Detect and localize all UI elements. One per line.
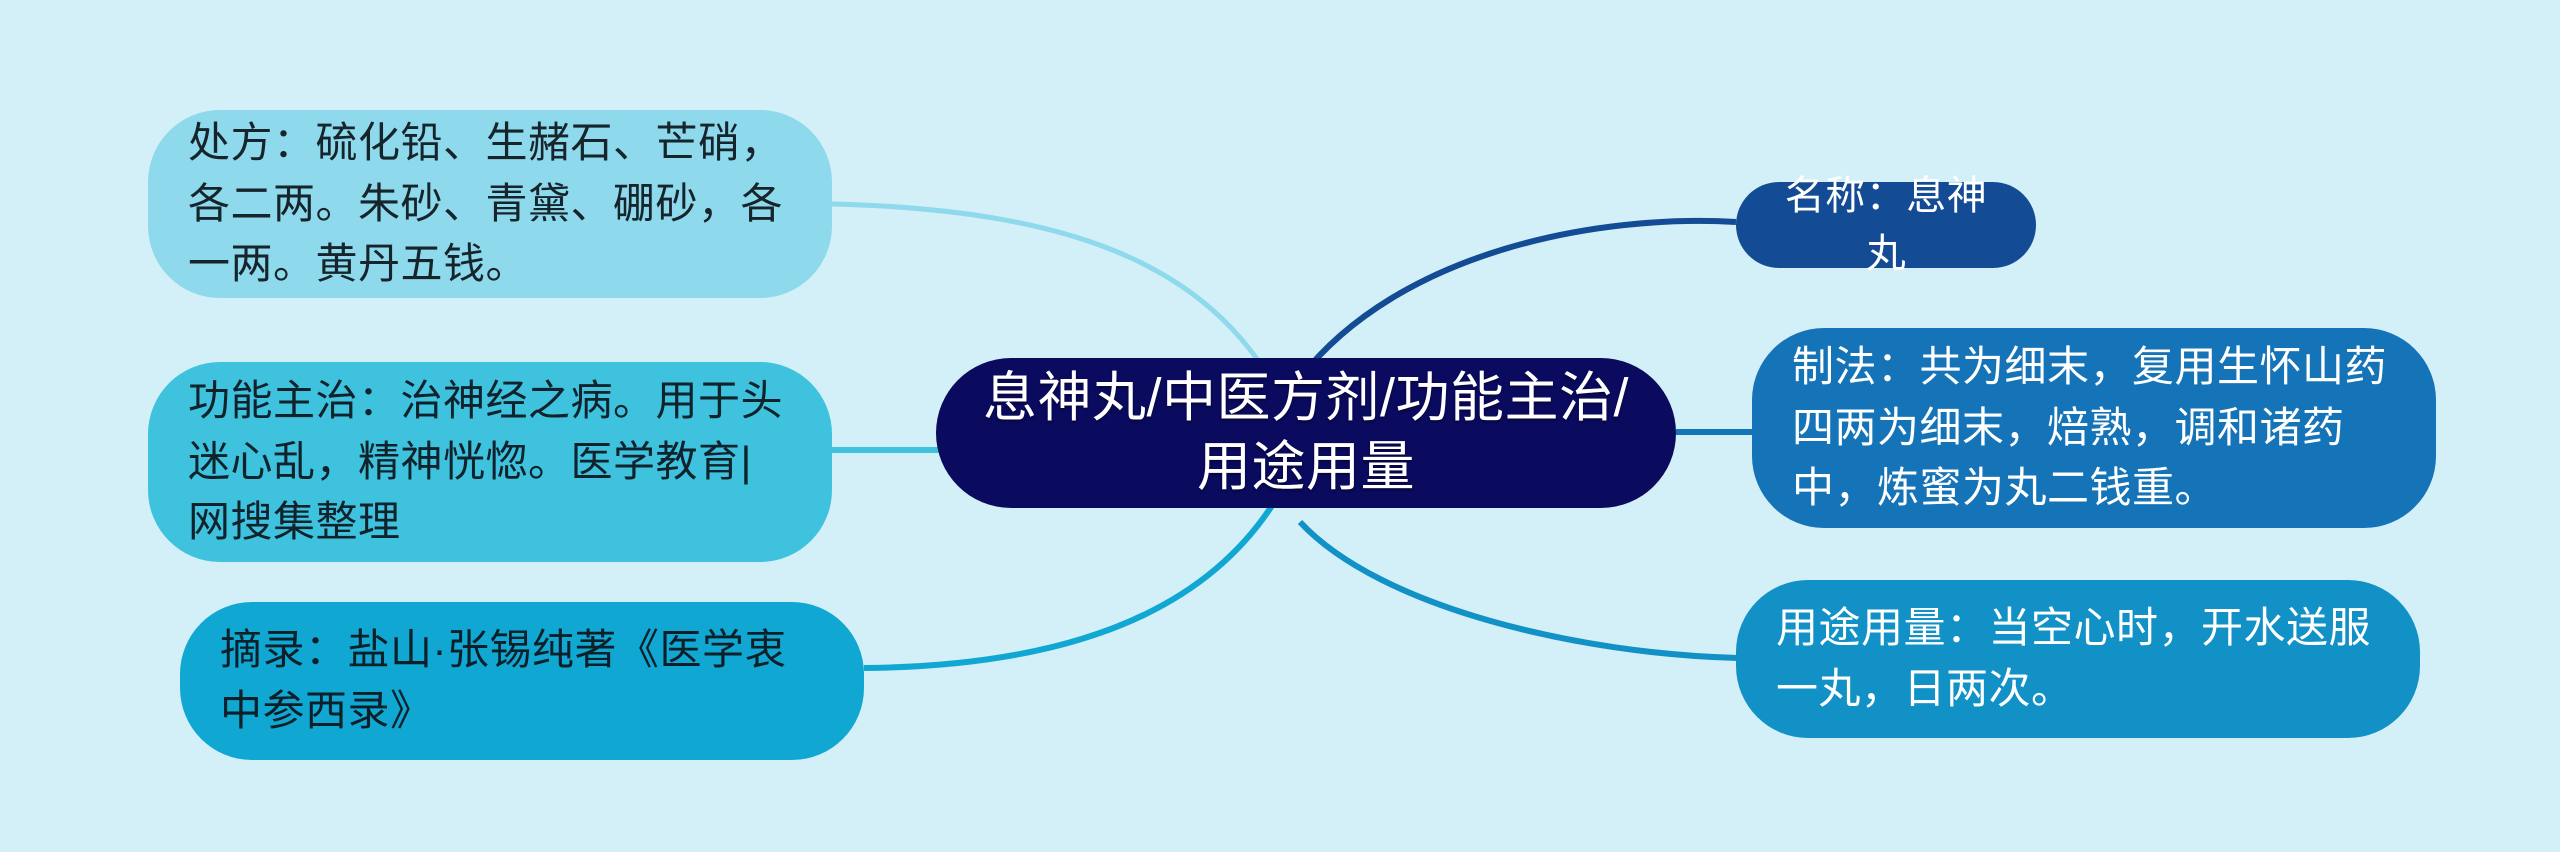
branch-label-preparation: 制法：共为细末，复用生怀山药四两为细末，焙熟，调和诸药中，炼蜜为丸二钱重。 xyxy=(1792,337,2396,520)
central-topic-label: 息神丸/中医方剂/功能主治/用途用量 xyxy=(980,364,1632,502)
central-topic-node[interactable]: 息神丸/中医方剂/功能主治/用途用量 xyxy=(936,358,1676,508)
branch-label-name: 名称：息神丸 xyxy=(1766,167,2006,283)
branch-node-preparation[interactable]: 制法：共为细末，复用生怀山药四两为细末，焙熟，调和诸药中，炼蜜为丸二钱重。 xyxy=(1752,328,2436,528)
branch-label-source: 摘录：盐山·张锡纯著《医学衷中参西录》 xyxy=(220,620,824,742)
branch-node-dosage[interactable]: 用途用量：当空心时，开水送服一丸，日两次。 xyxy=(1736,580,2420,738)
branch-node-source[interactable]: 摘录：盐山·张锡纯著《医学衷中参西录》 xyxy=(180,602,864,760)
branch-node-prescription[interactable]: 处方：硫化铅、生赭石、芒硝，各二两。朱砂、青黛、硼砂，各一两。黄丹五钱。 xyxy=(148,110,832,298)
branch-label-dosage: 用途用量：当空心时，开水送服一丸，日两次。 xyxy=(1776,598,2380,720)
branch-node-name[interactable]: 名称：息神丸 xyxy=(1736,182,2036,268)
connector-name xyxy=(1300,221,1736,378)
branch-label-indications: 功能主治：治神经之病。用于头迷心乱，精神恍惚。医学教育|网搜集整理 xyxy=(188,371,792,554)
branch-label-prescription: 处方：硫化铅、生赭石、芒硝，各二两。朱砂、青黛、硼砂，各一两。黄丹五钱。 xyxy=(188,113,792,296)
branch-node-indications[interactable]: 功能主治：治神经之病。用于头迷心乱，精神恍惚。医学教育|网搜集整理 xyxy=(148,362,832,562)
mindmap-canvas: 息神丸/中医方剂/功能主治/用途用量 处方：硫化铅、生赭石、芒硝，各二两。朱砂、… xyxy=(0,0,2560,852)
connector-dosage xyxy=(1300,522,1738,658)
